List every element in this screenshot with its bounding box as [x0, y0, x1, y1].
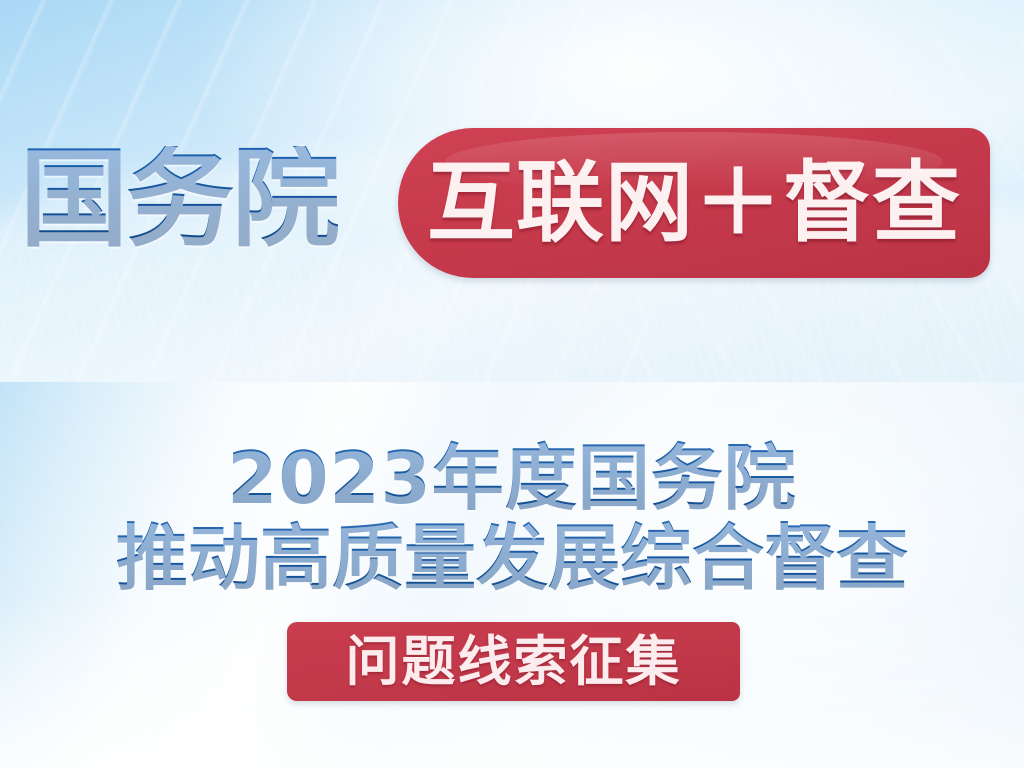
internet-plus-supervision-badge-label: 互联网＋督查: [398, 128, 990, 278]
bottom-banner: 2023年度国务院 推动高质量发展综合督查 问题线索征集: [0, 382, 1024, 768]
headline-line-2: 推动高质量发展综合督查: [0, 520, 1024, 596]
headline-line-1: 2023年度国务院: [0, 440, 1024, 516]
issue-collection-badge-label: 问题线索征集: [287, 622, 740, 701]
issue-collection-badge: 问题线索征集: [287, 622, 740, 701]
state-council-logo-text: 国务院: [20, 146, 338, 254]
top-banner: 国务院 互联网＋督查: [0, 0, 1024, 382]
poster-root: 国务院 互联网＋督查 2023年度国务院 推动高质量发展综合督查 问题线索征集: [0, 0, 1024, 768]
top-logo-row: 国务院 互联网＋督查: [0, 128, 1024, 283]
internet-plus-supervision-badge: 互联网＋督查: [398, 128, 990, 278]
